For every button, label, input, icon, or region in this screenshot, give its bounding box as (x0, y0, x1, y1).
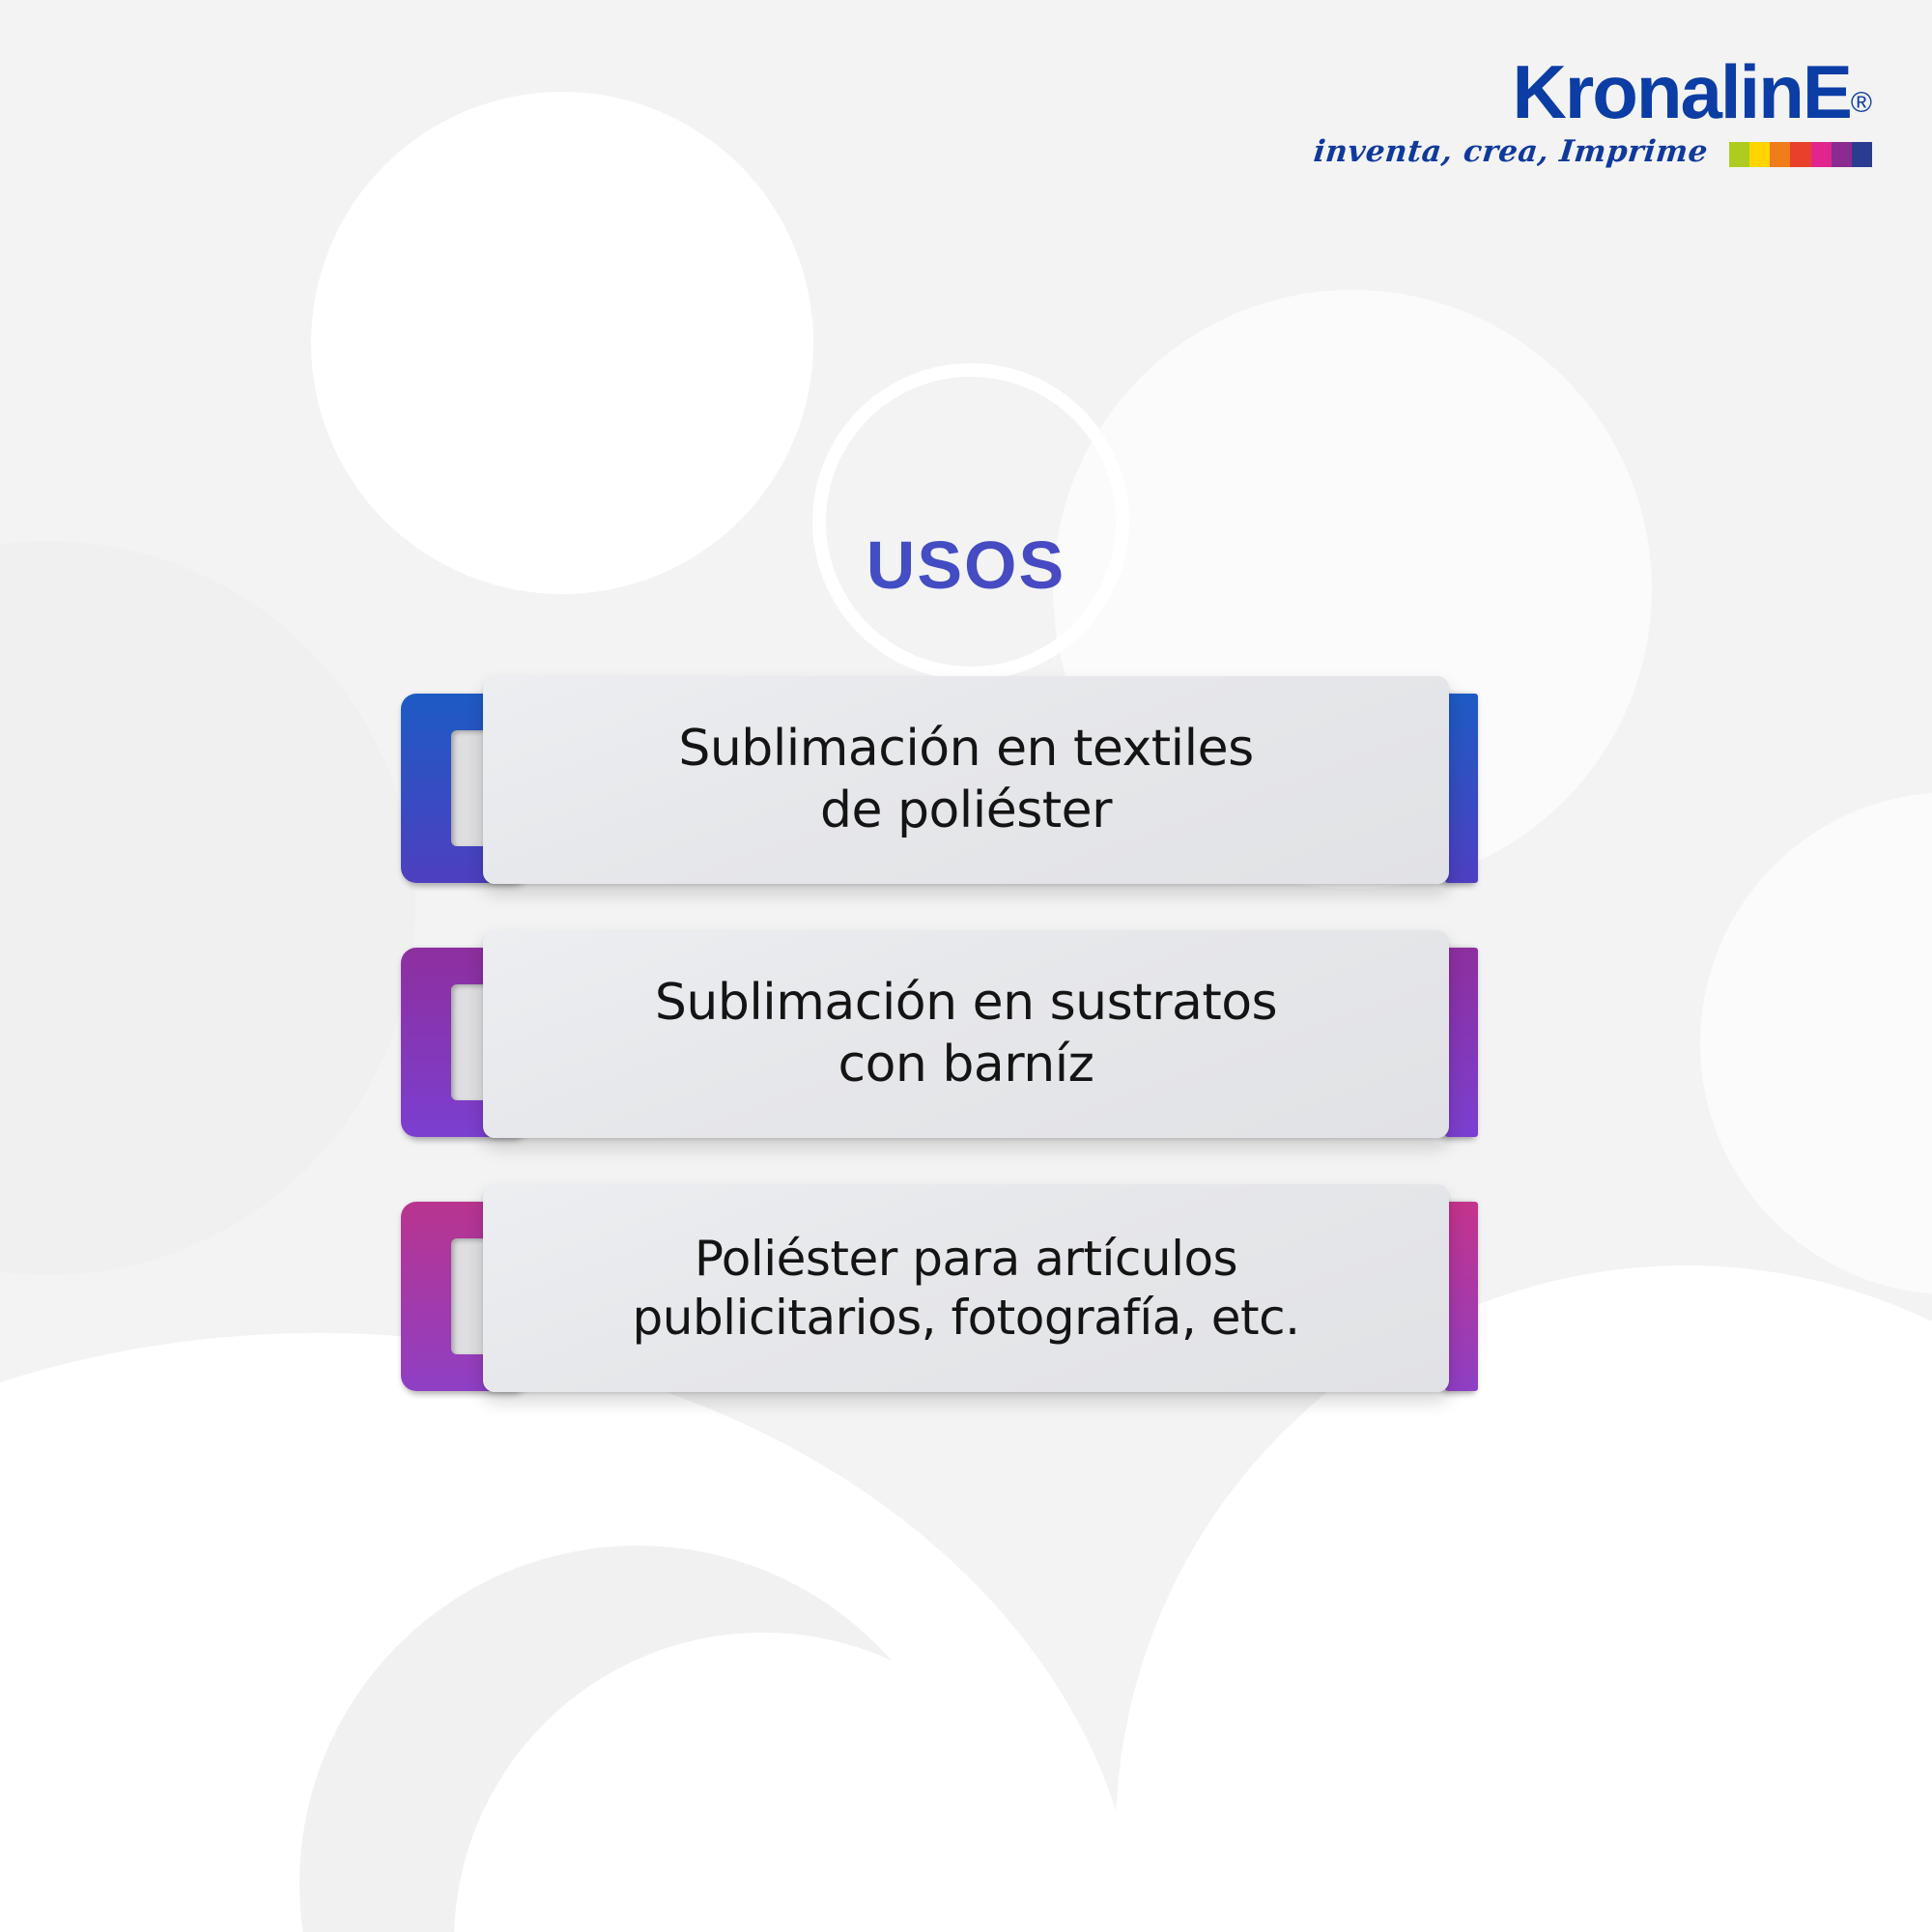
card-plaque[interactable]: Poliéster para artículos publicitarios, … (483, 1184, 1449, 1392)
logo-tagline: inventa, crea, Imprime (1313, 137, 1710, 167)
logo-wordmark: KronalinE® (1314, 54, 1872, 129)
list-item: Poliéster para artículos publicitarios, … (0, 1184, 1932, 1392)
accent-bar-magenta (1445, 1202, 1478, 1391)
page-title: USOS (0, 526, 1932, 604)
logo-color-swatches (1729, 142, 1872, 167)
swatch-green (1729, 142, 1749, 167)
background-ring-center (826, 377, 1116, 667)
accent-bar-purple (1445, 948, 1478, 1137)
brand-logo: KronalinE® inventa, crea, Imprime (1314, 54, 1872, 167)
swatch-yellow (1749, 142, 1770, 167)
list-item: Sublimación en textiles de poliéster (0, 676, 1932, 884)
accent-bar-blue (1445, 694, 1478, 883)
swatch-red (1790, 142, 1810, 167)
logo-word-text: KronalinE (1513, 54, 1851, 129)
poster-canvas: KronalinE® inventa, crea, Imprime USOS S… (0, 0, 1932, 1932)
card-plaque[interactable]: Sublimación en sustratos con barníz (483, 930, 1449, 1138)
swatch-magenta (1811, 142, 1832, 167)
card-plaque[interactable]: Sublimación en textiles de poliéster (483, 676, 1449, 884)
registered-trademark-icon: ® (1851, 89, 1872, 118)
card-label: Sublimación en sustratos con barníz (622, 973, 1310, 1095)
swatch-purple (1832, 142, 1852, 167)
card-label: Poliéster para artículos publicitarios, … (600, 1230, 1333, 1348)
logo-subrow: inventa, crea, Imprime (1314, 137, 1872, 167)
list-item: Sublimación en sustratos con barníz (0, 930, 1932, 1138)
background-circle-top-left (311, 92, 813, 594)
uses-list: Sublimación en textiles de poliéster Sub… (0, 676, 1932, 1438)
card-label: Sublimación en textiles de poliéster (645, 719, 1286, 841)
swatch-orange (1770, 142, 1790, 167)
swatch-navy (1852, 142, 1872, 167)
